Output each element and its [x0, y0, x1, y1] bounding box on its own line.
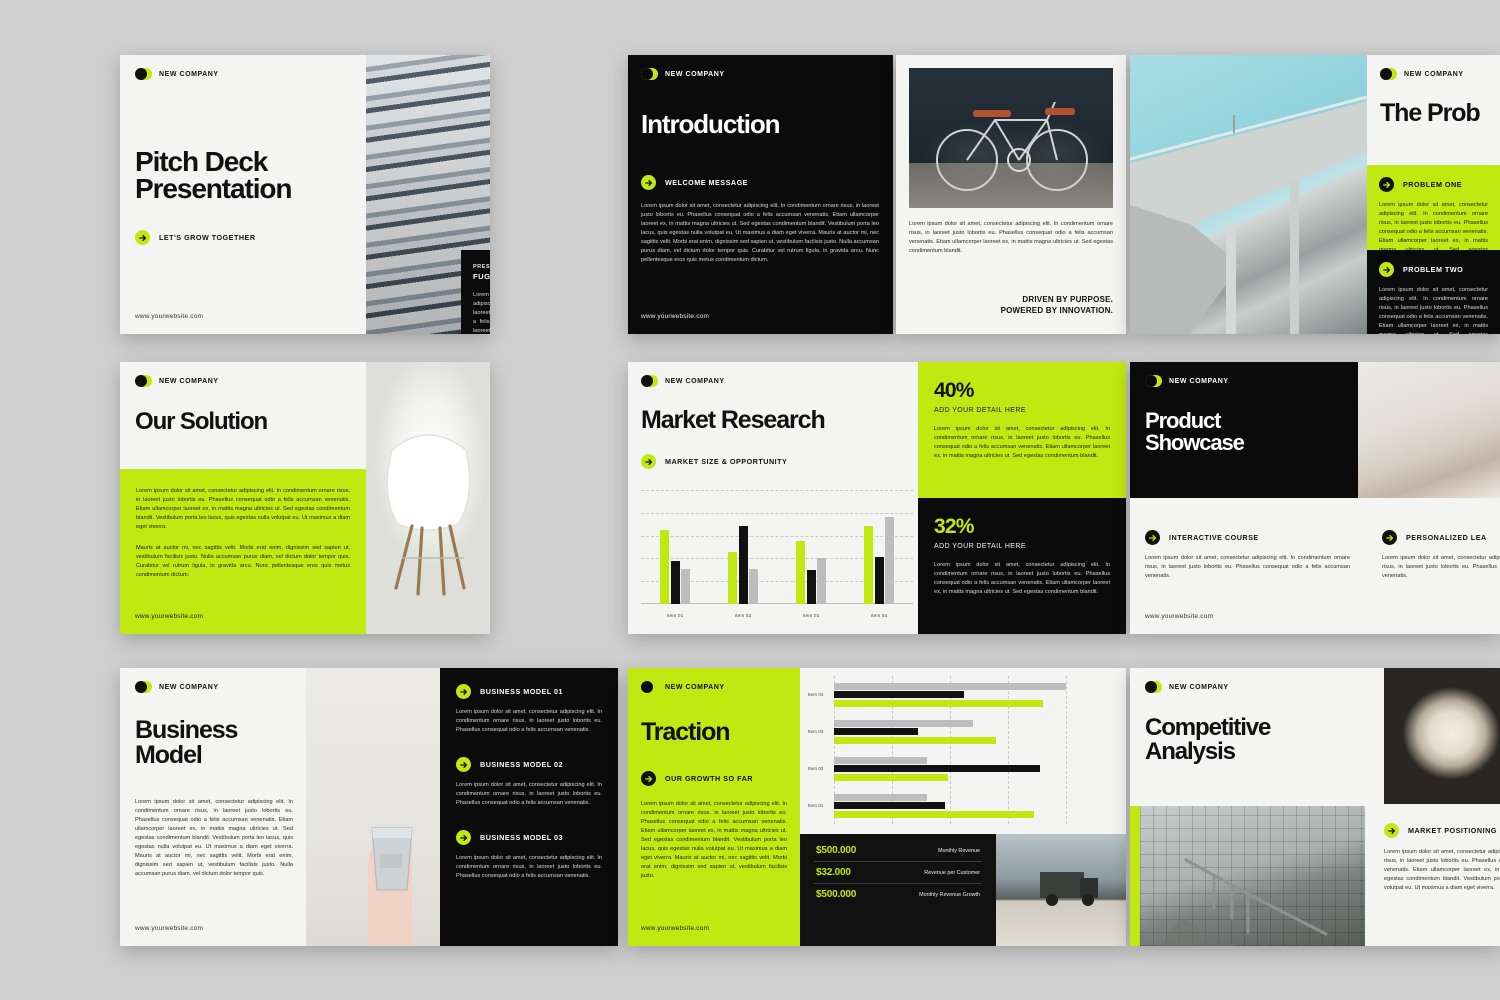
market-positioning-body: Lorem ipsum dolor sit amet, consectetur … — [1384, 848, 1500, 893]
slide-competitive-analysis[interactable]: NEW COMPANY Competitive Analysis MARKET … — [1130, 668, 1500, 946]
business-model-row: BUSINESS MODEL 03 — [456, 830, 602, 845]
brand-name: NEW COMPANY — [665, 71, 725, 78]
problem-one-label: PROBLEM ONE — [1403, 180, 1462, 189]
title-line-1: Pitch Deck — [135, 148, 291, 175]
bridge-photo — [1130, 55, 1367, 334]
bar-group — [834, 757, 1066, 781]
solution-paragraph-1: Lorem ipsum dolor sit amet, consectetur … — [136, 487, 350, 532]
chart-bars — [641, 490, 913, 604]
circle-logo-icon — [135, 68, 152, 80]
chair-photo — [366, 362, 490, 634]
circle-logo-icon — [1380, 68, 1397, 80]
cta-label: LET'S GROW TOGETHER — [159, 233, 256, 242]
business-model-list-panel: BUSINESS MODEL 01 Lorem ipsum dolor sit … — [440, 668, 618, 946]
tagline-line-2: POWERED BY INNOVATION. — [1001, 305, 1113, 317]
slide-business-model[interactable]: NEW COMPANY Business Model Lorem ipsum d… — [120, 668, 618, 946]
brand-header: NEW COMPANY — [641, 375, 725, 387]
y-tick-label: Item 04 — [808, 692, 834, 697]
y-tick-label: Item 01 — [808, 803, 834, 808]
arrow-right-icon — [456, 684, 471, 699]
business-model-row: BUSINESS MODEL 02 — [456, 757, 602, 772]
metric-label: Revenue per Customer — [924, 870, 980, 876]
website-footer[interactable]: www.yourwebsite.com — [1145, 613, 1213, 620]
metric-value: $500.000 — [816, 845, 856, 856]
title-line-1: Product — [1145, 410, 1244, 432]
arrow-right-icon — [641, 771, 656, 786]
arrow-right-icon — [641, 175, 656, 190]
stat-body: Lorem ipsum dolor sit amet, consectetur … — [934, 425, 1110, 461]
presenter-description: Lorem ipsum dolor sit amet, consectetur … — [473, 291, 490, 334]
y-tick-label: Item 02 — [808, 766, 834, 771]
stat-label: ADD YOUR DETAIL HERE — [934, 407, 1110, 414]
feature-label: PERSONALIZED LEA — [1406, 533, 1487, 542]
chart-bars — [834, 676, 1066, 824]
metric-row: $500.000 Monthly Revenue Growth — [814, 884, 982, 905]
circle-logo-icon — [641, 681, 658, 693]
brand-header: NEW COMPANY — [135, 681, 219, 693]
chart-y-labels: Item 04 Item 03 Item 02 Item 01 — [808, 676, 834, 824]
bar-group — [834, 794, 1066, 818]
business-model-label: BUSINESS MODEL 01 — [480, 687, 563, 696]
feature-interactive-course[interactable]: INTERACTIVE COURSE Lorem ipsum dolor sit… — [1145, 530, 1350, 581]
brand-name: NEW COMPANY — [159, 71, 219, 78]
slide-the-problem[interactable]: NEW COMPANY The Prob PROBLEM ONE Lorem i… — [1130, 55, 1500, 334]
market-positioning-block[interactable]: MARKET POSITIONING Lorem ipsum dolor sit… — [1384, 823, 1500, 893]
problem-one-row: PROBLEM ONE — [1379, 177, 1488, 192]
arrow-right-icon — [641, 454, 656, 469]
arrow-right-icon — [1384, 823, 1399, 838]
slide-introduction-detail[interactable]: Lorem ipsum dolor sit amet, consectetur … — [896, 55, 1126, 334]
page-title: Product Showcase — [1145, 410, 1244, 453]
bar-group — [864, 490, 894, 604]
bar-group — [796, 490, 826, 604]
list-item[interactable]: BUSINESS MODEL 02 Lorem ipsum dolor sit … — [456, 757, 602, 808]
arrow-right-icon — [456, 757, 471, 772]
metric-value: $500.000 — [816, 889, 856, 900]
traction-metrics-panel: $500.000 Monthly Revenue $32.000 Revenue… — [800, 834, 996, 946]
website-footer[interactable]: www.yourwebsite.com — [135, 613, 203, 620]
title-line-2: Analysis — [1145, 740, 1270, 764]
metric-label: Monthly Revenue — [938, 848, 980, 854]
page-title: Business Model — [135, 718, 237, 767]
x-tick-label: Item 01 — [667, 613, 684, 618]
page-title: Our Solution — [135, 410, 267, 434]
website-footer[interactable]: www.yourwebsite.com — [135, 925, 203, 932]
brand-header: NEW COMPANY — [1145, 375, 1229, 387]
stat-body: Lorem ipsum dolor sit amet, consectetur … — [934, 561, 1110, 597]
slide-grid: NEW COMPANY Pitch Deck Presentation LET'… — [0, 0, 1500, 1000]
stat-value: 40% — [934, 380, 1110, 401]
page-title: Traction — [641, 720, 729, 745]
circle-logo-icon — [1145, 375, 1162, 387]
arrow-right-icon — [1379, 177, 1394, 192]
stat-label: ADD YOUR DETAIL HERE — [934, 543, 1110, 550]
brand-name: NEW COMPANY — [665, 378, 725, 385]
truck-photo — [996, 834, 1126, 946]
x-tick-label: Item 04 — [871, 613, 888, 618]
title-line-1: Business — [135, 718, 237, 743]
problem-two-card[interactable]: PROBLEM TWO Lorem ipsum dolor sit amet, … — [1367, 250, 1500, 334]
market-research-bar-chart: Item 01 Item 02 Item 03 Item 04 — [641, 490, 913, 618]
feature-label: INTERACTIVE COURSE — [1169, 533, 1259, 542]
solution-lime-panel: Lorem ipsum dolor sit amet, consectetur … — [120, 469, 366, 634]
market-positioning-row: MARKET POSITIONING — [1384, 823, 1500, 838]
slide-introduction[interactable]: NEW COMPANY Introduction WELCOME MESSAGE… — [628, 55, 893, 334]
presented-by-label: PRESENTED BY — [473, 264, 490, 270]
problem-two-row: PROBLEM TWO — [1379, 262, 1488, 277]
business-model-body: Lorem ipsum dolor sit amet, consectetur … — [456, 708, 602, 735]
bicycle-photo — [909, 68, 1113, 208]
presenter-name: FUGO AMANDO — [473, 272, 490, 281]
brand-name: NEW COMPANY — [665, 684, 725, 691]
brand-header: NEW COMPANY — [1145, 681, 1229, 693]
problem-one-card[interactable]: PROBLEM ONE Lorem ipsum dolor sit amet, … — [1367, 165, 1500, 250]
metric-row: $500.000 Monthly Revenue — [814, 840, 982, 862]
arrow-right-icon — [1145, 530, 1160, 545]
brand-header: NEW COMPANY — [1380, 68, 1464, 80]
chart-x-labels: Item 01 Item 02 Item 03 Item 04 — [641, 613, 913, 618]
slide-market-research[interactable]: NEW COMPANY Market Research MARKET SIZE … — [628, 362, 1126, 634]
bar-group — [834, 720, 1066, 744]
bar-group — [834, 683, 1066, 707]
arrow-right-icon — [1382, 530, 1397, 545]
problem-two-label: PROBLEM TWO — [1403, 265, 1463, 274]
arrow-right-icon — [456, 830, 471, 845]
website-footer[interactable]: www.yourwebsite.com — [641, 313, 709, 320]
blanket-photo — [1358, 362, 1500, 498]
website-footer[interactable]: www.yourwebsite.com — [641, 925, 709, 932]
page-title: Pitch Deck Presentation — [135, 148, 291, 203]
cta-row[interactable]: LET'S GROW TOGETHER — [135, 230, 256, 245]
circle-logo-icon — [641, 68, 658, 80]
welcome-message-row[interactable]: WELCOME MESSAGE — [641, 175, 748, 190]
introduction-detail-body: Lorem ipsum dolor sit amet, consectetur … — [909, 220, 1113, 256]
stat-value: 32% — [934, 516, 1110, 537]
presenter-card: PRESENTED BY FUGO AMANDO Lorem ipsum dol… — [461, 250, 490, 334]
market-positioning-label: MARKET POSITIONING — [1408, 826, 1497, 835]
tagline-line-1: DRIVEN BY PURPOSE. — [1001, 294, 1113, 306]
stat-card-32: 32% ADD YOUR DETAIL HERE Lorem ipsum dol… — [918, 498, 1126, 634]
business-model-body: Lorem ipsum dolor sit amet, consectetur … — [456, 781, 602, 808]
business-model-row: BUSINESS MODEL 01 — [456, 684, 602, 699]
metric-value: $32.000 — [816, 867, 851, 878]
brand-name: NEW COMPANY — [159, 684, 219, 691]
market-size-label: MARKET SIZE & OPPORTUNITY — [665, 457, 787, 466]
bar-group — [660, 490, 690, 604]
tagline: DRIVEN BY PURPOSE. POWERED BY INNOVATION… — [1001, 294, 1113, 317]
bar-group — [728, 490, 758, 604]
brand-header: NEW COMPANY — [641, 68, 725, 80]
arrow-right-icon — [135, 230, 150, 245]
y-tick-label: Item 03 — [808, 729, 834, 734]
market-size-row[interactable]: MARKET SIZE & OPPORTUNITY — [641, 454, 787, 469]
x-tick-label: Item 03 — [803, 613, 820, 618]
feature-row: PERSONALIZED LEA — [1382, 530, 1500, 545]
book-photo — [1384, 668, 1500, 804]
feature-body: Lorem ipsum dolor sit amet, consectetur … — [1145, 554, 1350, 581]
feature-body: Lorem ipsum dolor sit amet, consectetur … — [1382, 554, 1500, 581]
introduction-body: Lorem ipsum dolor sit amet, consectetur … — [641, 202, 879, 265]
brand-name: NEW COMPANY — [1404, 71, 1464, 78]
solution-paragraph-2: Mauris at auctor mi, nec sagittis velit.… — [136, 544, 350, 580]
title-line-1: Competitive — [1145, 716, 1270, 740]
business-model-label: BUSINESS MODEL 02 — [480, 760, 563, 769]
page-title: The Prob — [1380, 101, 1480, 126]
traction-body: Lorem ipsum dolor sit amet, consectetur … — [641, 800, 787, 881]
stairs-photo — [1140, 806, 1365, 946]
brand-header: NEW COMPANY — [135, 375, 219, 387]
brand-name: NEW COMPANY — [1169, 378, 1229, 385]
business-model-body: Lorem ipsum dolor sit amet, consectetur … — [456, 854, 602, 881]
circle-logo-icon — [135, 681, 152, 693]
list-item[interactable]: BUSINESS MODEL 03 Lorem ipsum dolor sit … — [456, 830, 602, 881]
brand-name: NEW COMPANY — [1169, 684, 1229, 691]
metric-label: Monthly Revenue Growth — [919, 892, 980, 898]
stat-card-40: 40% ADD YOUR DETAIL HERE Lorem ipsum dol… — [918, 362, 1126, 498]
circle-logo-icon — [641, 375, 658, 387]
metric-row: $32.000 Revenue per Customer — [814, 862, 982, 884]
title-line-2: Model — [135, 743, 237, 768]
slide-pitch-deck-title[interactable]: NEW COMPANY Pitch Deck Presentation LET'… — [120, 55, 490, 334]
page-title: Introduction — [641, 112, 779, 137]
business-model-body: Lorem ipsum dolor sit amet, consectetur … — [135, 798, 293, 879]
growth-row[interactable]: OUR GROWTH SO FAR — [641, 771, 753, 786]
website-footer[interactable]: www.yourwebsite.com — [135, 313, 203, 320]
x-tick-label: Item 02 — [735, 613, 752, 618]
feature-personalized-learning[interactable]: PERSONALIZED LEA Lorem ipsum dolor sit a… — [1382, 530, 1500, 581]
brand-header: NEW COMPANY — [641, 681, 725, 693]
problem-two-body: Lorem ipsum dolor sit amet, consectetur … — [1379, 286, 1488, 334]
slide-our-solution[interactable]: NEW COMPANY Our Solution Lorem ipsum dol… — [120, 362, 490, 634]
page-title: Market Research — [641, 408, 825, 433]
brand-header: NEW COMPANY — [135, 68, 219, 80]
business-model-label: BUSINESS MODEL 03 — [480, 833, 563, 842]
list-item[interactable]: BUSINESS MODEL 01 Lorem ipsum dolor sit … — [456, 684, 602, 735]
traction-bar-chart: Item 04 Item 03 Item 02 Item 01 — [808, 676, 1066, 824]
slide-traction[interactable]: NEW COMPANY Traction OUR GROWTH SO FAR L… — [628, 668, 1126, 946]
title-line-2: Showcase — [1145, 432, 1244, 454]
growth-label: OUR GROWTH SO FAR — [665, 774, 753, 783]
circle-logo-icon — [135, 375, 152, 387]
brand-name: NEW COMPANY — [159, 378, 219, 385]
welcome-message-label: WELCOME MESSAGE — [665, 178, 748, 187]
circle-logo-icon — [1145, 681, 1162, 693]
arrow-right-icon — [1379, 262, 1394, 277]
slide-product-showcase[interactable]: NEW COMPANY Product Showcase INTERACTIVE… — [1130, 362, 1500, 634]
hand-holding-tumbler-photo — [306, 668, 454, 946]
feature-row: INTERACTIVE COURSE — [1145, 530, 1350, 545]
title-line-2: Presentation — [135, 175, 291, 202]
page-title: Competitive Analysis — [1145, 716, 1270, 763]
